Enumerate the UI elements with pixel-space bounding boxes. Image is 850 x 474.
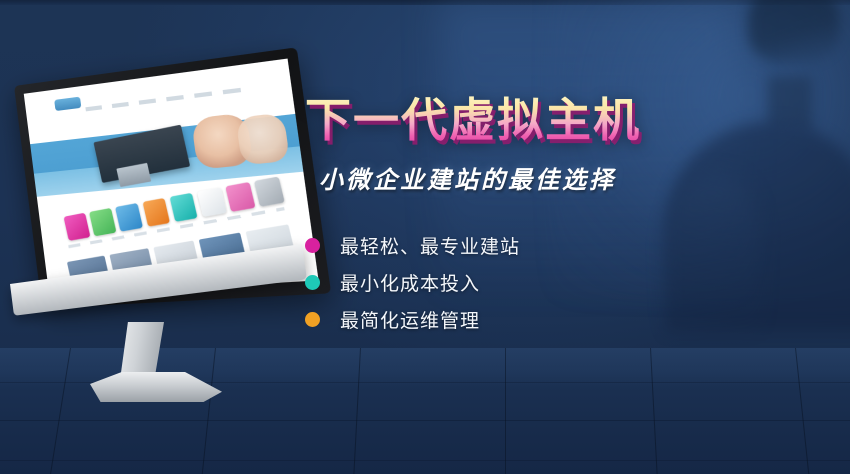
bullet-dot-icon xyxy=(305,275,320,290)
feature-label: 最小化成本投入 xyxy=(340,269,480,296)
floor-horizontal-line xyxy=(0,460,850,461)
floor-vertical-line xyxy=(505,348,506,474)
list-item: 最小化成本投入 xyxy=(305,266,735,300)
site-app-icon xyxy=(63,212,90,240)
monitor-stand-neck xyxy=(120,322,164,380)
site-app-icon xyxy=(115,202,143,231)
banner-headline: 下一代虚拟主机 xyxy=(305,96,735,146)
site-app-icon xyxy=(254,176,285,206)
desktop-monitor-icon xyxy=(8,84,292,394)
feature-label: 最轻松、最专业建站 xyxy=(340,232,520,259)
feature-label: 最简化运维管理 xyxy=(340,306,480,333)
floor-horizontal-line xyxy=(0,420,850,421)
site-app-icon xyxy=(197,187,226,217)
banner-subheadline: 小微企业建站的最佳选择 xyxy=(319,160,735,195)
feature-list: 最轻松、最专业建站 最小化成本投入 最简化运维管理 xyxy=(305,229,735,337)
bullet-dot-icon xyxy=(305,238,320,253)
bullet-dot-icon xyxy=(305,312,320,327)
site-app-icon xyxy=(169,192,198,221)
site-app-icon xyxy=(89,207,116,236)
list-item: 最简化运维管理 xyxy=(305,303,735,337)
list-item: 最轻松、最专业建站 xyxy=(305,229,735,263)
hero-banner: 下一代虚拟主机 小微企业建站的最佳选择 最轻松、最专业建站 最小化成本投入 最简… xyxy=(0,0,850,474)
monitor-stand-base xyxy=(90,372,222,402)
site-app-icon xyxy=(225,182,255,212)
banner-text-block: 下一代虚拟主机 小微企业建站的最佳选择 最轻松、最专业建站 最小化成本投入 最简… xyxy=(305,96,735,340)
site-app-icon xyxy=(142,197,170,226)
